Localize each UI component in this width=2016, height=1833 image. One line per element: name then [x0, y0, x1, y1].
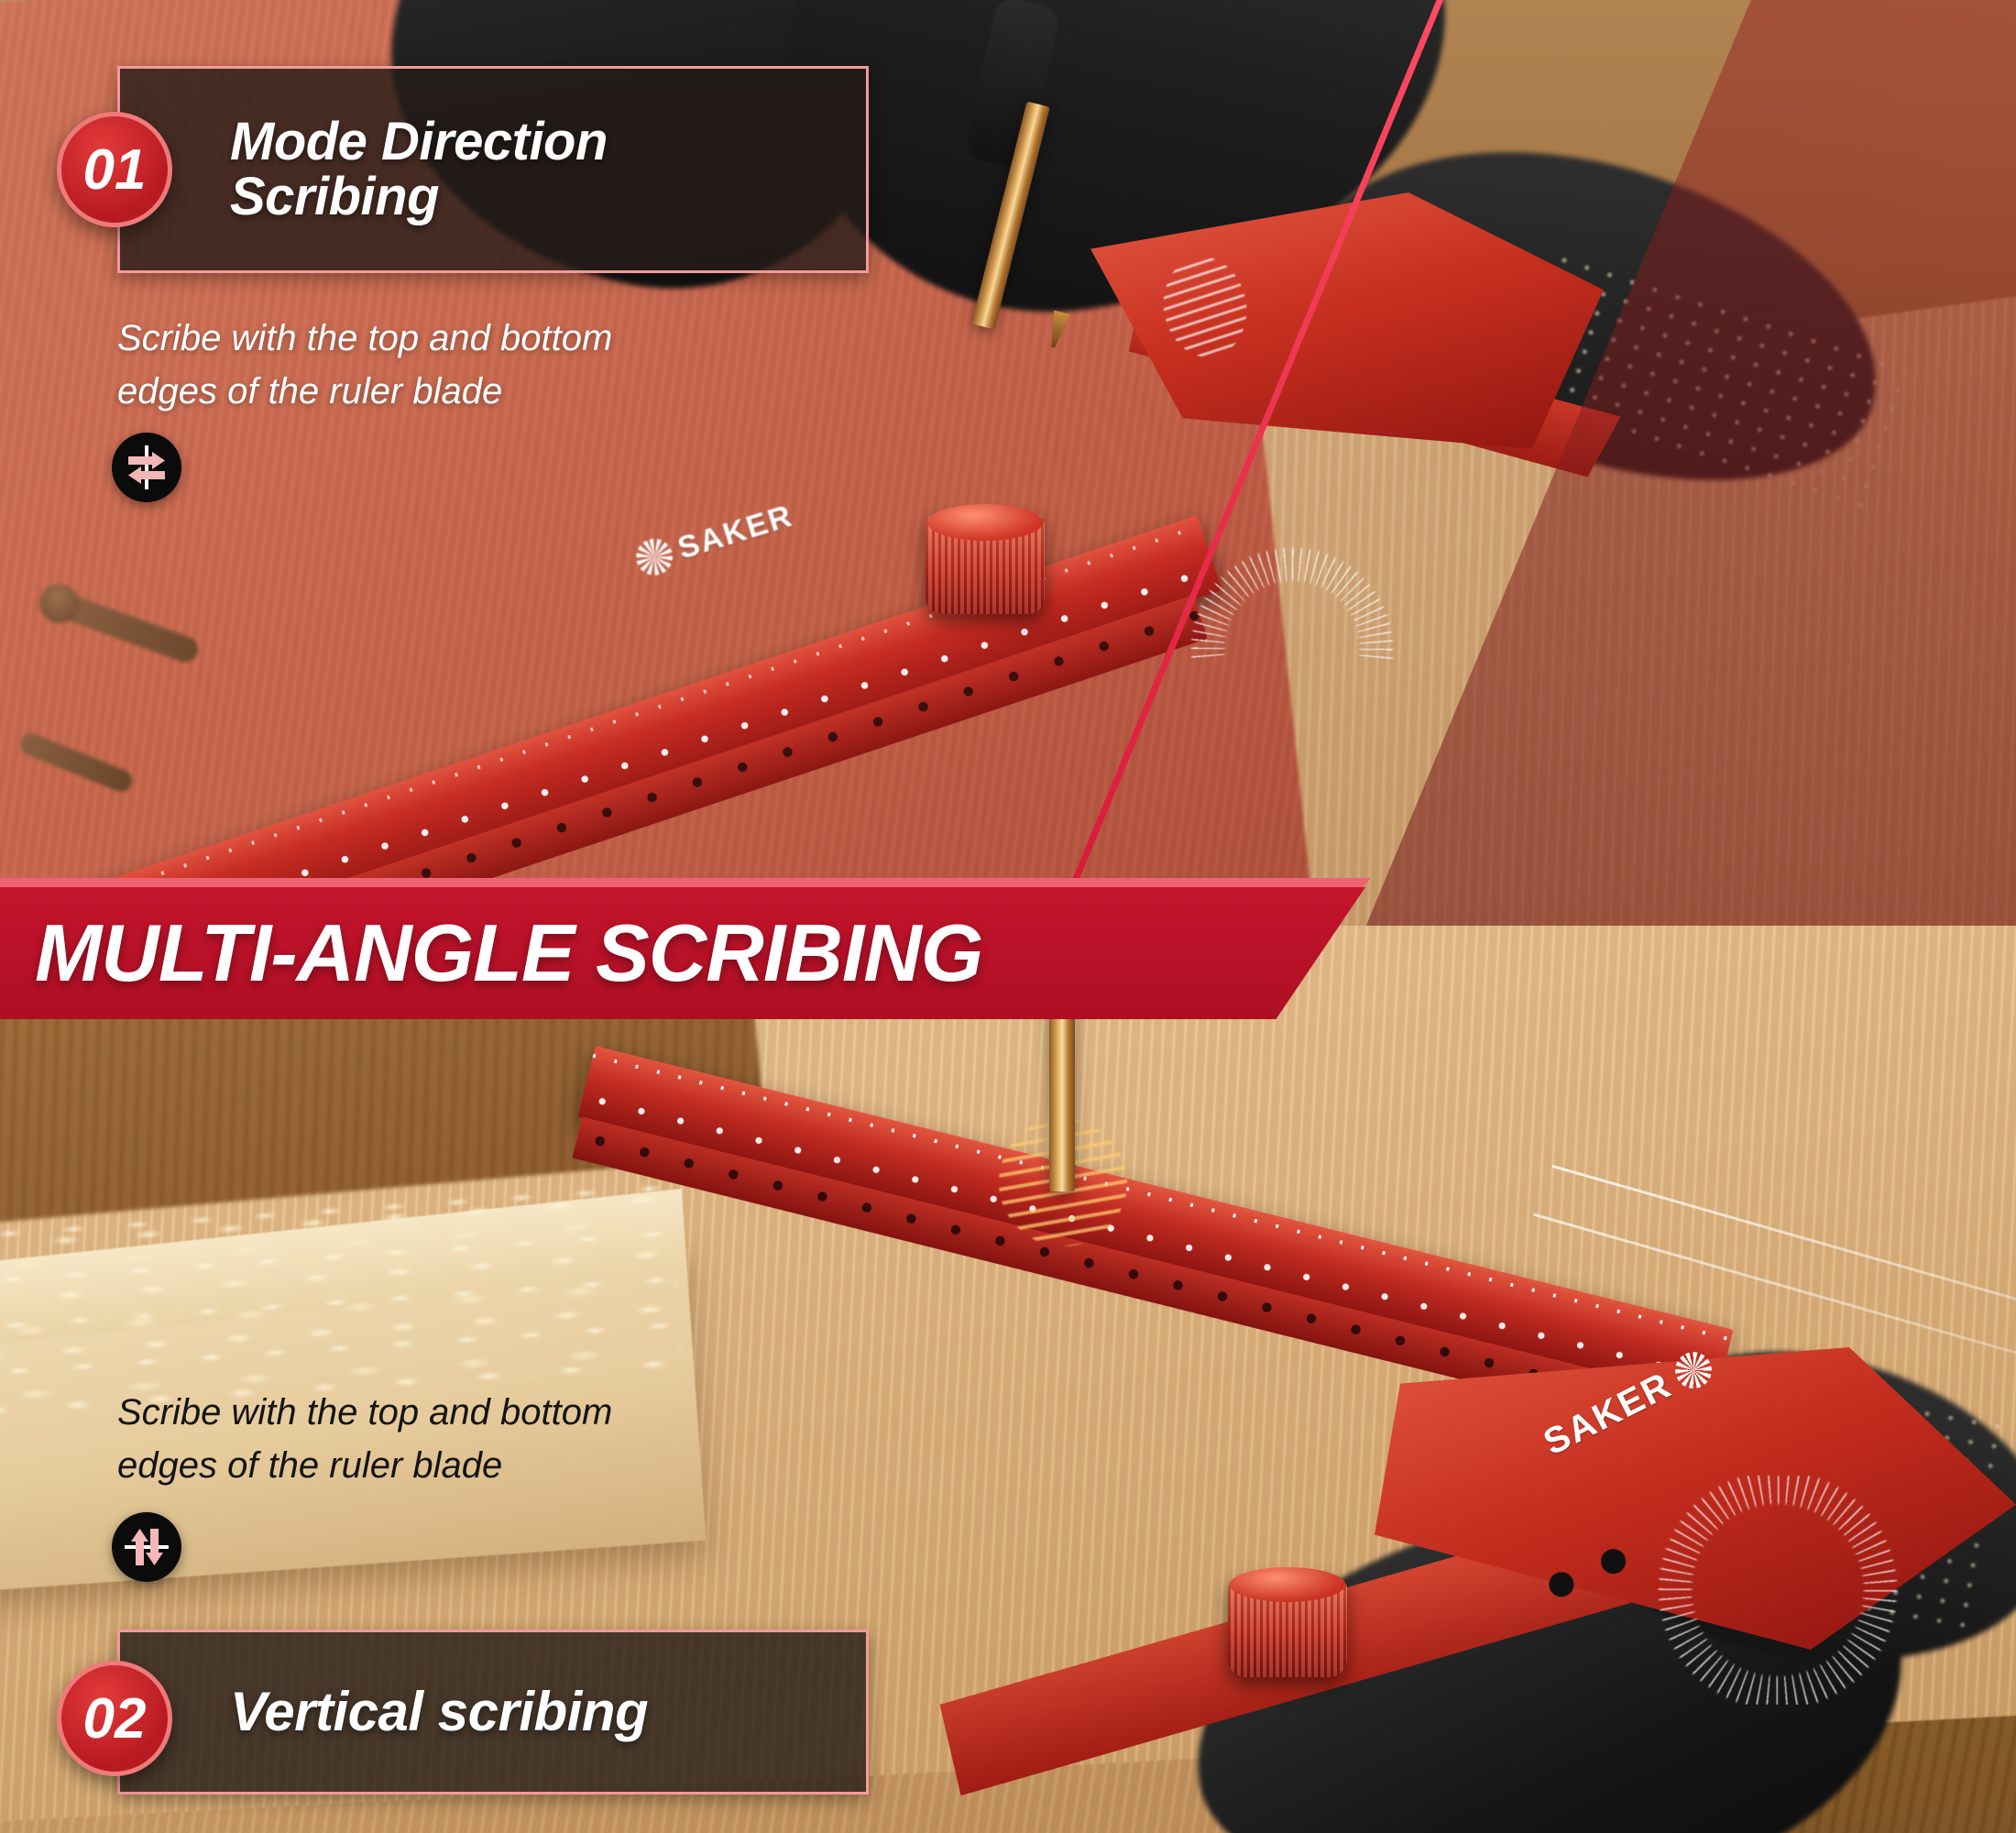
step-1-number-badge: 01	[57, 112, 172, 227]
step-1-title: Mode Direction Scribing	[230, 115, 608, 225]
brand-name-top: SAKER	[674, 498, 797, 566]
step-2-number-badge: 02	[57, 1661, 172, 1776]
step-1-title-line-1: Mode Direction	[230, 115, 608, 170]
step-2-title: Vertical scribing	[230, 1684, 648, 1740]
step-1-caption: Scribe with the top and bottom edges of …	[117, 312, 612, 418]
step-1-caption-line-2: edges of the ruler blade	[117, 365, 612, 418]
banner-title: MULTI-ANGLE SCRIBING	[0, 906, 982, 1000]
main-banner: MULTI-ANGLE SCRIBING	[0, 887, 1365, 1019]
step-2-caption-line-1: Scribe with the top and bottom	[117, 1386, 612, 1439]
horizontal-opposed-arrows-icon	[112, 433, 181, 502]
locking-knob-cap-bottom	[1230, 1567, 1345, 1602]
step-2-label-box: Vertical scribing	[117, 1630, 869, 1795]
step-1-caption-line-1: Scribe with the top and bottom	[117, 312, 612, 365]
product-infographic: SAKER	[0, 0, 2016, 1833]
step-2-caption: Scribe with the top and bottom edges of …	[117, 1386, 612, 1492]
step-2-title-line-1: Vertical scribing	[230, 1684, 648, 1740]
step-1-label-box: Mode Direction Scribing	[117, 66, 869, 273]
vertical-opposed-arrows-icon	[112, 1512, 181, 1582]
step-1-title-line-2: Scribing	[230, 170, 608, 225]
protractor-ticks-top	[1182, 440, 1402, 660]
protractor-scale-bottom	[1640, 1476, 1915, 1705]
gear-flame-icon	[631, 534, 677, 580]
locking-knob-cap-top	[927, 504, 1043, 541]
step-2-caption-line-2: edges of the ruler blade	[117, 1439, 612, 1492]
scribing-ruler-tool-bottom: SAKER	[550, 999, 1833, 1732]
brand-logo-top: SAKER	[629, 475, 846, 589]
